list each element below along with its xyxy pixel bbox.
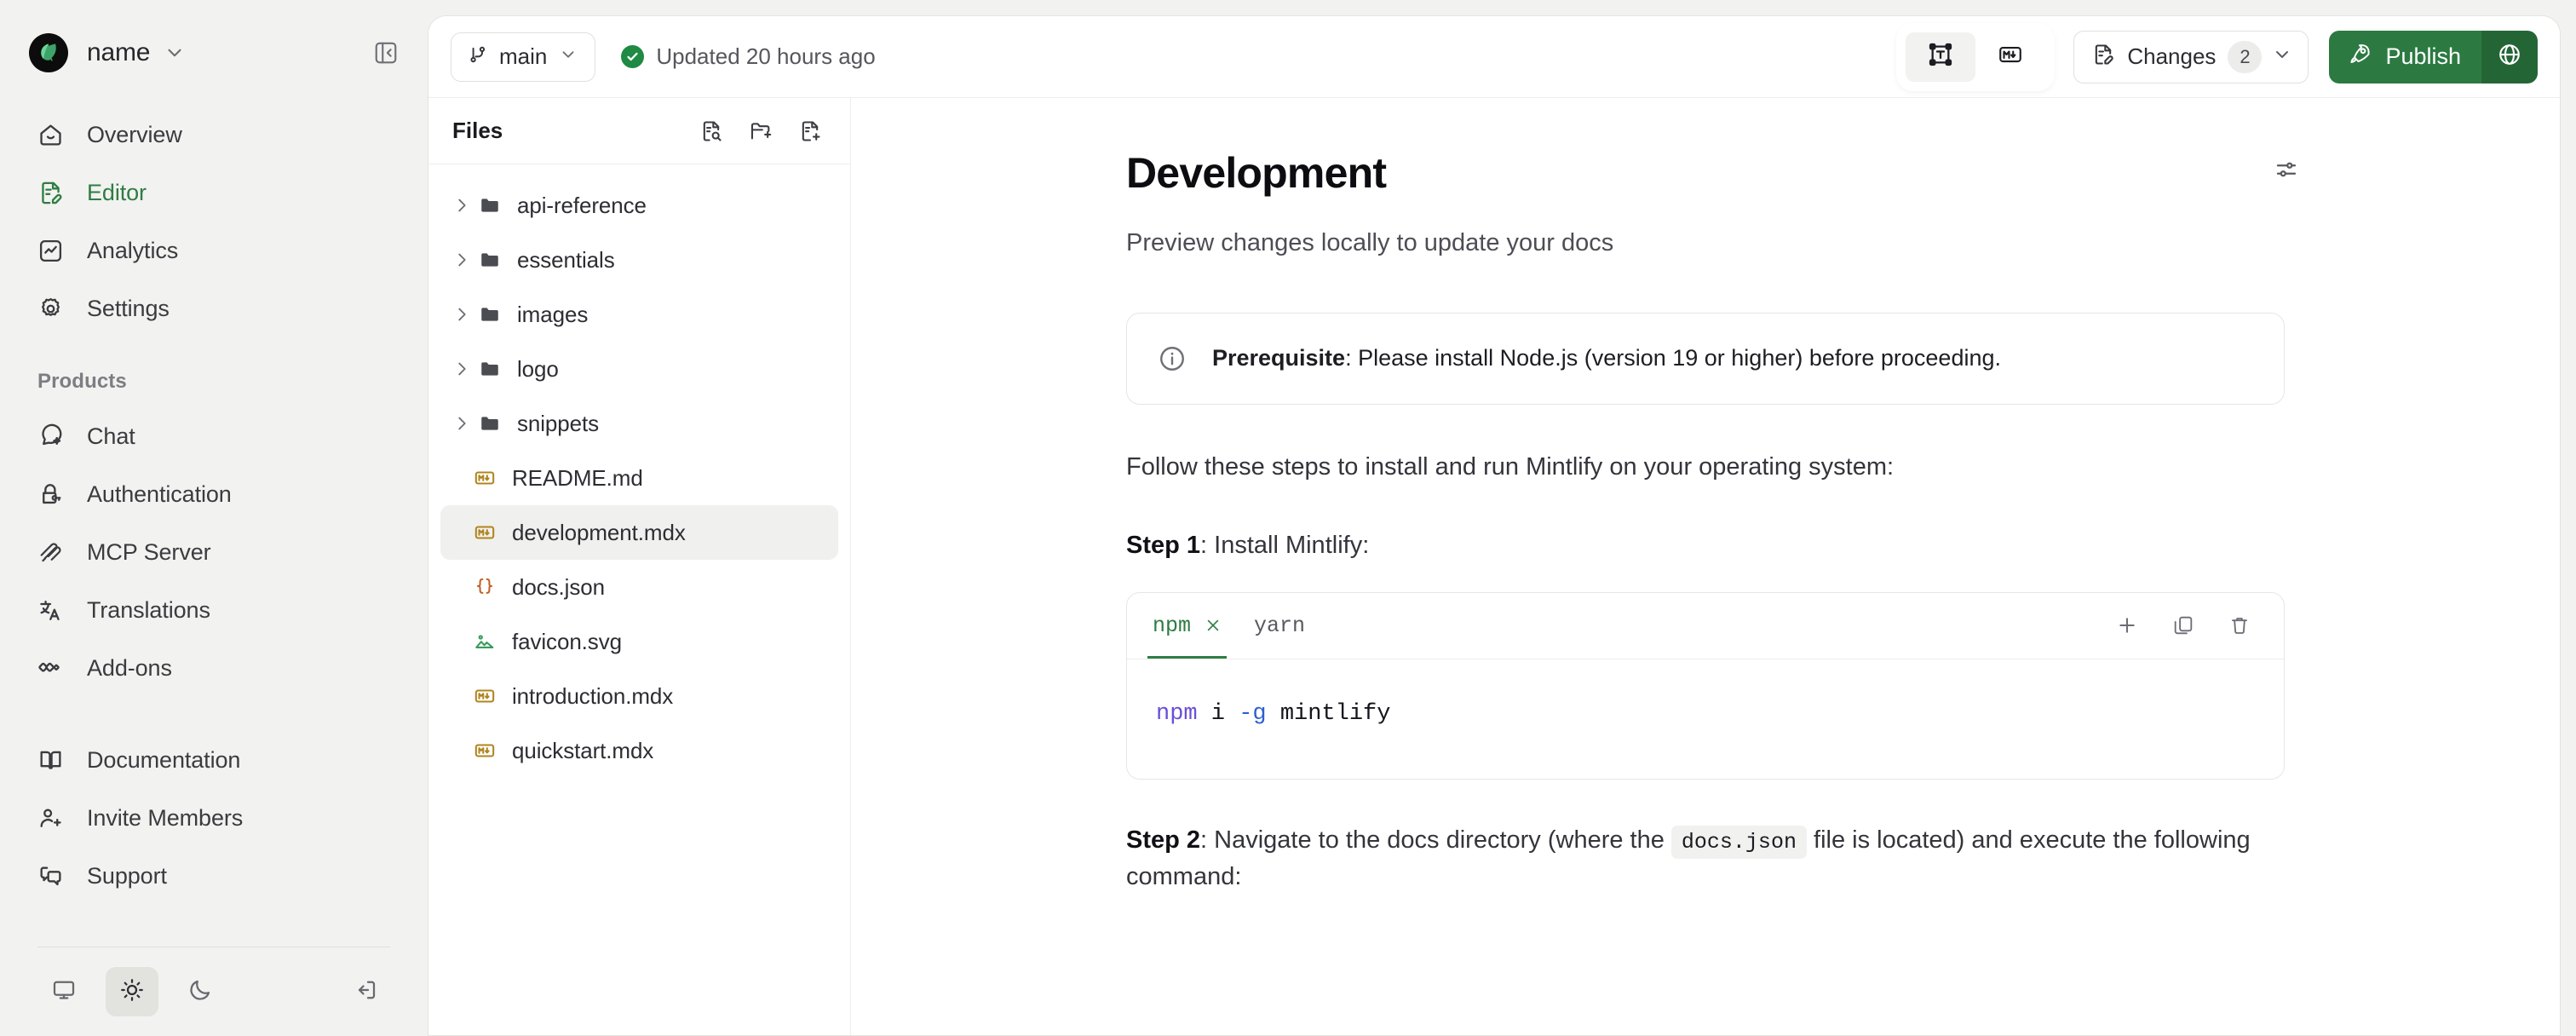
brand-name: name bbox=[87, 38, 150, 67]
translate-icon bbox=[37, 597, 68, 624]
chat-sparkle-icon bbox=[37, 423, 68, 450]
code-block-group: npm yarn bbox=[1126, 592, 2285, 780]
logout-icon bbox=[353, 977, 378, 1007]
file-pencil-icon bbox=[2091, 43, 2115, 71]
main-panel: main Updated 20 hours ago bbox=[428, 15, 2561, 1036]
step-2-part1: : Navigate to the docs directory (where … bbox=[1200, 826, 1671, 854]
code-tab-yarn[interactable]: yarn bbox=[1254, 592, 1305, 659]
nav-spacer bbox=[24, 697, 404, 731]
sidebar-section-products: Products bbox=[24, 370, 404, 394]
branch-selector[interactable]: main bbox=[451, 32, 595, 82]
code-tab-npm[interactable]: npm bbox=[1153, 592, 1222, 659]
sidebar-item-invite-members[interactable]: Invite Members bbox=[24, 789, 404, 847]
visual-editor-button[interactable] bbox=[1906, 32, 1975, 82]
sidebar-item-label: MCP Server bbox=[87, 539, 211, 566]
close-icon[interactable] bbox=[1205, 617, 1222, 634]
code-token-arg: i bbox=[1198, 701, 1239, 727]
files-actions bbox=[683, 110, 831, 153]
folder-icon bbox=[474, 303, 505, 325]
chevron-right-icon[interactable] bbox=[449, 305, 474, 324]
markdown-file-icon bbox=[469, 740, 500, 762]
markdown-editor-button[interactable] bbox=[1975, 32, 2045, 82]
left-sidebar: name Overview bbox=[0, 0, 428, 1036]
json-file-icon bbox=[469, 576, 500, 598]
tree-folder-snippets[interactable]: snippets bbox=[440, 396, 838, 451]
files-title: Files bbox=[452, 118, 503, 144]
tree-item-label: logo bbox=[517, 356, 559, 383]
tree-item-label: api-reference bbox=[517, 193, 647, 219]
sidebar-item-mcp-server[interactable]: MCP Server bbox=[24, 523, 404, 581]
chevron-down-icon bbox=[2272, 44, 2292, 69]
step-2-text: Step 2: Navigate to the docs directory (… bbox=[1126, 822, 2285, 894]
tree-file-docs-json[interactable]: docs.json bbox=[440, 560, 838, 614]
sidebar-item-overview[interactable]: Overview bbox=[24, 106, 404, 164]
publish-button-group: Publish bbox=[2329, 31, 2538, 83]
gear-icon bbox=[37, 296, 68, 322]
step-1-bold: Step 1 bbox=[1126, 532, 1200, 559]
prerequisite-callout: Prerequisite: Please install Node.js (ve… bbox=[1126, 313, 2285, 405]
tree-file-introduction[interactable]: introduction.mdx bbox=[440, 669, 838, 723]
sidebar-item-label: Chat bbox=[87, 423, 135, 450]
chat-bubbles-icon bbox=[37, 863, 68, 889]
tree-folder-images[interactable]: images bbox=[440, 287, 838, 342]
tree-item-label: docs.json bbox=[512, 574, 605, 601]
tree-item-label: favicon.svg bbox=[512, 629, 622, 655]
sidebar-item-label: Add-ons bbox=[87, 655, 172, 682]
copy-icon[interactable] bbox=[2161, 603, 2205, 647]
sidebar-item-documentation[interactable]: Documentation bbox=[24, 731, 404, 789]
sidebar-item-translations[interactable]: Translations bbox=[24, 581, 404, 639]
diamonds-icon bbox=[37, 655, 68, 682]
sidebar-item-label: Support bbox=[87, 863, 167, 889]
tree-item-label: development.mdx bbox=[512, 520, 686, 546]
update-status-text: Updated 20 hours ago bbox=[656, 43, 875, 70]
chart-square-icon bbox=[37, 238, 68, 264]
changes-count-badge: 2 bbox=[2228, 41, 2262, 73]
editor-mode-toggle bbox=[1900, 26, 2051, 88]
text-frame-icon bbox=[1927, 41, 1954, 72]
sidebar-item-label: Editor bbox=[87, 180, 147, 206]
top-toolbar: main Updated 20 hours ago bbox=[428, 16, 2560, 98]
products-nav: Chat Authentication bbox=[24, 407, 404, 697]
step-2-bold: Step 2 bbox=[1126, 826, 1200, 854]
sidebar-item-label: Overview bbox=[87, 122, 182, 148]
sidebar-item-label: Documentation bbox=[87, 747, 240, 774]
document-content: Development Preview changes locally to u… bbox=[1092, 149, 2319, 895]
code-block-actions bbox=[2093, 603, 2262, 647]
page-subtitle: Preview changes locally to update your d… bbox=[1126, 226, 2285, 261]
publish-options-button[interactable] bbox=[2481, 31, 2538, 83]
file-pencil-icon bbox=[37, 180, 68, 206]
code-token-package: mintlify bbox=[1267, 701, 1391, 727]
monitor-icon bbox=[51, 977, 77, 1007]
chevron-right-icon[interactable] bbox=[449, 414, 474, 433]
chevron-right-icon[interactable] bbox=[449, 196, 474, 215]
panel-collapse-left-icon[interactable] bbox=[370, 37, 402, 69]
inline-code-docs-json: docs.json bbox=[1671, 826, 1807, 859]
sun-icon bbox=[119, 977, 145, 1007]
tree-folder-logo[interactable]: logo bbox=[440, 342, 838, 396]
files-header: Files bbox=[428, 98, 850, 164]
book-open-icon bbox=[37, 747, 68, 774]
document-editor: Development Preview changes locally to u… bbox=[851, 98, 2560, 1035]
chevron-right-icon[interactable] bbox=[449, 360, 474, 378]
brand-row: name bbox=[24, 0, 404, 106]
theme-light-button[interactable] bbox=[106, 967, 158, 1016]
sidebar-item-editor[interactable]: Editor bbox=[24, 164, 404, 222]
sidebar-item-settings[interactable]: Settings bbox=[24, 279, 404, 337]
files-panel: Files bbox=[428, 98, 851, 1035]
markdown-file-icon bbox=[469, 521, 500, 544]
sidebar-item-label: Authentication bbox=[87, 481, 232, 508]
chevron-down-icon bbox=[559, 45, 578, 68]
intro-paragraph: Follow these steps to install and run Mi… bbox=[1126, 449, 2285, 485]
trash-icon[interactable] bbox=[2217, 603, 2262, 647]
tree-file-readme[interactable]: README.md bbox=[440, 451, 838, 505]
secondary-nav: Documentation Invite Members bbox=[24, 731, 404, 905]
branch-name: main bbox=[499, 43, 547, 70]
changes-button[interactable]: Changes 2 bbox=[2073, 31, 2309, 83]
tree-folder-api-reference[interactable]: api-reference bbox=[440, 178, 838, 233]
globe-icon bbox=[2497, 42, 2522, 72]
logout-button[interactable] bbox=[341, 967, 390, 1016]
tree-item-label: snippets bbox=[517, 411, 599, 437]
mcp-stack-icon bbox=[37, 539, 68, 566]
step-1-rest: : Install Mintlify: bbox=[1200, 532, 1369, 559]
update-status: Updated 20 hours ago bbox=[621, 43, 875, 70]
check-circle-icon bbox=[621, 45, 644, 68]
sidebar-item-support[interactable]: Support bbox=[24, 847, 404, 905]
sidebar-item-add-ons[interactable]: Add-ons bbox=[24, 639, 404, 697]
code-token-flag: -g bbox=[1239, 701, 1266, 727]
user-plus-icon bbox=[37, 805, 68, 832]
info-circle-icon bbox=[1158, 344, 1192, 373]
file-tree: api-reference essentials bbox=[428, 164, 850, 778]
file-plus-icon[interactable] bbox=[789, 110, 831, 153]
toolbar-right-group: Changes 2 bbox=[1900, 26, 2538, 88]
chevron-down-icon[interactable] bbox=[164, 42, 186, 64]
tree-item-label: introduction.mdx bbox=[512, 683, 673, 710]
callout-text: Prerequisite: Please install Node.js (ve… bbox=[1212, 342, 2001, 375]
home-icon bbox=[37, 122, 68, 148]
sidebar-item-label: Analytics bbox=[87, 238, 178, 264]
sidebar-item-label: Translations bbox=[87, 597, 210, 624]
sidebar-item-analytics[interactable]: Analytics bbox=[24, 222, 404, 279]
tree-file-development[interactable]: development.mdx bbox=[440, 505, 838, 560]
tree-file-quickstart[interactable]: quickstart.mdx bbox=[440, 723, 838, 778]
code-block-body[interactable]: npm i -g mintlify bbox=[1127, 659, 2284, 780]
code-line: npm i -g mintlify bbox=[1156, 697, 2255, 732]
theme-system-button[interactable] bbox=[37, 967, 90, 1016]
page-settings-button[interactable] bbox=[2264, 149, 2309, 193]
page-title: Development bbox=[1126, 149, 2285, 199]
sliders-icon bbox=[2274, 157, 2299, 187]
plus-icon[interactable] bbox=[2105, 603, 2149, 647]
step-1-text: Step 1: Install Mintlify: bbox=[1126, 527, 2285, 563]
chevron-right-icon[interactable] bbox=[449, 250, 474, 269]
sidebar-item-label: Invite Members bbox=[87, 805, 243, 832]
code-tab-label: yarn bbox=[1254, 613, 1305, 638]
theme-dark-button[interactable] bbox=[174, 967, 227, 1016]
lock-key-icon bbox=[37, 481, 68, 508]
folder-icon bbox=[474, 194, 505, 216]
primary-nav: Overview Editor Analytics bbox=[24, 106, 404, 337]
moon-icon bbox=[187, 977, 213, 1007]
rocket-icon bbox=[2348, 42, 2373, 72]
sidebar-item-chat[interactable]: Chat bbox=[24, 407, 404, 465]
folder-plus-icon[interactable] bbox=[739, 110, 782, 153]
tree-item-label: README.md bbox=[512, 465, 643, 492]
code-token-command: npm bbox=[1156, 701, 1198, 727]
folder-icon bbox=[474, 249, 505, 271]
callout-bold: Prerequisite bbox=[1212, 345, 1345, 371]
markdown-icon bbox=[1998, 42, 2023, 72]
mintlify-leaf-logo bbox=[29, 33, 68, 72]
editor-body: Files bbox=[428, 98, 2560, 1035]
file-search-icon[interactable] bbox=[690, 110, 733, 153]
publish-button[interactable]: Publish bbox=[2329, 31, 2481, 83]
tree-file-favicon[interactable]: favicon.svg bbox=[440, 614, 838, 669]
sidebar-item-label: Settings bbox=[87, 296, 170, 322]
git-branch-icon bbox=[467, 43, 489, 70]
code-tab-label: npm bbox=[1153, 613, 1191, 638]
markdown-file-icon bbox=[469, 467, 500, 489]
changes-label: Changes bbox=[2127, 43, 2216, 70]
theme-switcher bbox=[24, 947, 404, 1036]
app-root: name Overview bbox=[0, 0, 2576, 1036]
folder-icon bbox=[474, 412, 505, 435]
callout-rest: : Please install Node.js (version 19 or … bbox=[1345, 345, 2001, 371]
tree-item-label: images bbox=[517, 302, 588, 328]
tree-item-label: essentials bbox=[517, 247, 615, 273]
tree-item-label: quickstart.mdx bbox=[512, 738, 653, 764]
folder-icon bbox=[474, 358, 505, 380]
publish-label: Publish bbox=[2385, 43, 2461, 70]
sidebar-item-authentication[interactable]: Authentication bbox=[24, 465, 404, 523]
sidebar-flex-spacer bbox=[24, 905, 404, 931]
code-block-tabs: npm yarn bbox=[1127, 593, 2284, 659]
tree-folder-essentials[interactable]: essentials bbox=[440, 233, 838, 287]
image-file-icon bbox=[469, 630, 500, 653]
markdown-file-icon bbox=[469, 685, 500, 707]
